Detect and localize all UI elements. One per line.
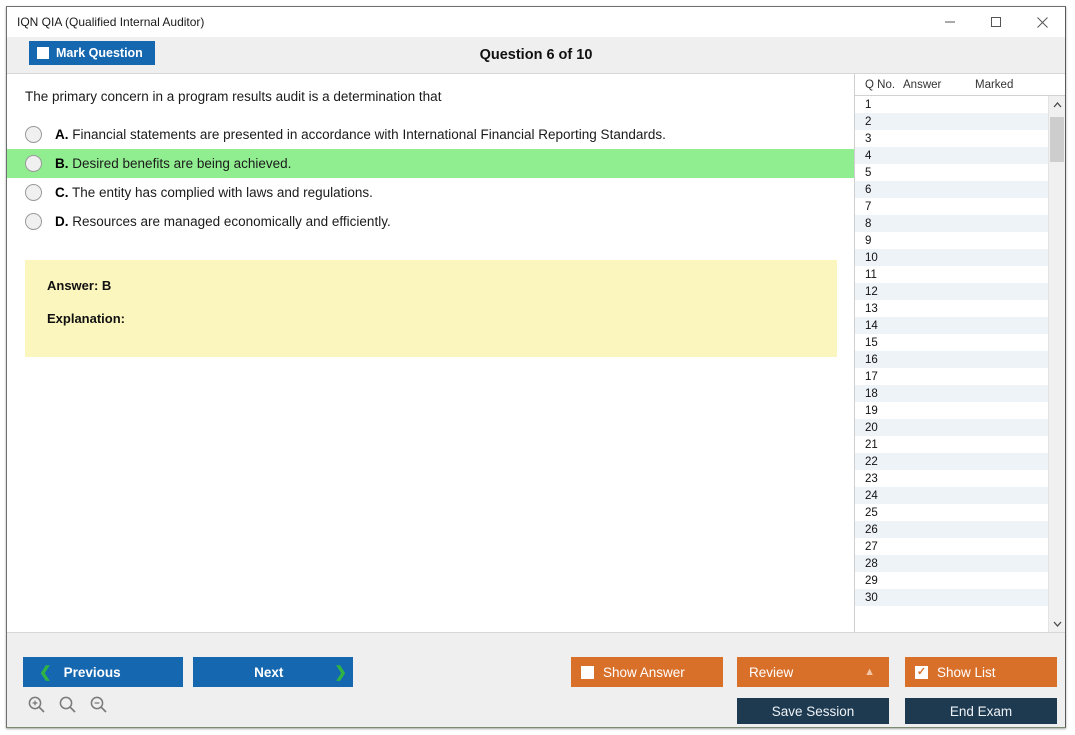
question-list-row[interactable]: 25 xyxy=(855,504,1048,521)
question-list-body: 1234567891011121314151617181920212223242… xyxy=(855,96,1065,632)
zoom-controls xyxy=(27,695,108,714)
review-label: Review xyxy=(749,665,793,680)
question-list-row[interactable]: 9 xyxy=(855,232,1048,249)
option-row[interactable]: A. Financial statements are presented in… xyxy=(7,120,854,149)
previous-button[interactable]: ❮ Previous xyxy=(23,657,183,687)
cell-question-number: 10 xyxy=(855,252,903,264)
cell-question-number: 3 xyxy=(855,133,903,145)
close-button[interactable] xyxy=(1019,7,1065,37)
question-list-row[interactable]: 30 xyxy=(855,589,1048,606)
cell-question-number: 19 xyxy=(855,405,903,417)
question-list-header: Q No. Answer Marked xyxy=(855,74,1065,96)
question-list-row[interactable]: 10 xyxy=(855,249,1048,266)
chevron-up-icon: ▲ xyxy=(864,666,875,678)
question-list-row[interactable]: 26 xyxy=(855,521,1048,538)
options-list: A. Financial statements are presented in… xyxy=(7,120,854,236)
option-radio-button[interactable] xyxy=(25,126,42,143)
cell-question-number: 17 xyxy=(855,371,903,383)
show-answer-button[interactable]: Show Answer xyxy=(571,657,723,687)
footer-toolbar: ❮ Previous Next ❯ Show Answer Review ▲ ✓… xyxy=(7,632,1065,727)
show-list-checkbox-icon: ✓ xyxy=(915,666,928,679)
question-list-row[interactable]: 19 xyxy=(855,402,1048,419)
mark-question-label: Mark Question xyxy=(56,46,143,60)
question-list-row[interactable]: 28 xyxy=(855,555,1048,572)
question-list-row[interactable]: 29 xyxy=(855,572,1048,589)
cell-question-number: 2 xyxy=(855,116,903,128)
cell-question-number: 16 xyxy=(855,354,903,366)
question-header-bar: Mark Question Question 6 of 10 xyxy=(7,37,1065,74)
option-row[interactable]: C. The entity has complied with laws and… xyxy=(7,178,854,207)
cell-question-number: 7 xyxy=(855,201,903,213)
scrollbar-track[interactable] xyxy=(1049,113,1065,615)
show-answer-checkbox-icon xyxy=(581,666,594,679)
cell-question-number: 26 xyxy=(855,524,903,536)
cell-question-number: 18 xyxy=(855,388,903,400)
question-list-row[interactable]: 6 xyxy=(855,181,1048,198)
cell-question-number: 27 xyxy=(855,541,903,553)
question-list-row[interactable]: 24 xyxy=(855,487,1048,504)
chevron-left-icon: ❮ xyxy=(39,665,52,680)
zoom-out-icon[interactable] xyxy=(89,695,108,714)
option-letter: D. xyxy=(55,214,69,229)
option-label: A. Financial statements are presented in… xyxy=(55,127,666,142)
previous-button-label: Previous xyxy=(64,665,121,680)
option-radio-button[interactable] xyxy=(25,213,42,230)
scroll-up-arrow-icon[interactable] xyxy=(1049,96,1065,113)
cell-question-number: 1 xyxy=(855,99,903,111)
question-list-row[interactable]: 20 xyxy=(855,419,1048,436)
window-controls xyxy=(927,7,1065,37)
option-row[interactable]: B. Desired benefits are being achieved. xyxy=(7,149,854,178)
cell-question-number: 14 xyxy=(855,320,903,332)
cell-question-number: 28 xyxy=(855,558,903,570)
question-list-row[interactable]: 14 xyxy=(855,317,1048,334)
option-radio-button[interactable] xyxy=(25,184,42,201)
question-list-scrollbar[interactable] xyxy=(1048,96,1065,632)
chevron-right-icon: ❯ xyxy=(334,665,347,680)
question-list-row[interactable]: 4 xyxy=(855,147,1048,164)
question-list-rows: 1234567891011121314151617181920212223242… xyxy=(855,96,1048,632)
cell-question-number: 5 xyxy=(855,167,903,179)
option-text: Financial statements are presented in ac… xyxy=(72,127,666,142)
option-text: Resources are managed economically and e… xyxy=(72,214,390,229)
question-list-row[interactable]: 21 xyxy=(855,436,1048,453)
cell-question-number: 20 xyxy=(855,422,903,434)
window-title: IQN QIA (Qualified Internal Auditor) xyxy=(7,15,204,29)
next-button[interactable]: Next ❯ xyxy=(193,657,353,687)
cell-question-number: 23 xyxy=(855,473,903,485)
question-list-row[interactable]: 8 xyxy=(855,215,1048,232)
cell-question-number: 21 xyxy=(855,439,903,451)
minimize-button[interactable] xyxy=(927,7,973,37)
question-list-row[interactable]: 3 xyxy=(855,130,1048,147)
mark-question-checkbox-icon xyxy=(37,47,49,59)
scrollbar-thumb[interactable] xyxy=(1050,117,1064,162)
cell-question-number: 13 xyxy=(855,303,903,315)
question-list-row[interactable]: 2 xyxy=(855,113,1048,130)
title-bar: IQN QIA (Qualified Internal Auditor) xyxy=(7,7,1065,37)
question-list-row[interactable]: 17 xyxy=(855,368,1048,385)
answer-line: Answer: B xyxy=(47,278,837,293)
option-letter: C. xyxy=(55,185,69,200)
maximize-button[interactable] xyxy=(973,7,1019,37)
question-counter: Question 6 of 10 xyxy=(7,37,1065,74)
end-exam-button[interactable]: End Exam xyxy=(905,698,1057,724)
question-list-row[interactable]: 11 xyxy=(855,266,1048,283)
question-list-row[interactable]: 15 xyxy=(855,334,1048,351)
show-list-toggle[interactable]: ✓ Show List xyxy=(905,657,1057,687)
option-label: B. Desired benefits are being achieved. xyxy=(55,156,291,171)
column-header-answer: Answer xyxy=(903,79,975,91)
question-list-row[interactable]: 13 xyxy=(855,300,1048,317)
application-window: IQN QIA (Qualified Internal Auditor) Mar… xyxy=(6,6,1066,728)
cell-question-number: 9 xyxy=(855,235,903,247)
show-answer-label: Show Answer xyxy=(603,665,685,680)
option-label: D. Resources are managed economically an… xyxy=(55,214,391,229)
cell-question-number: 11 xyxy=(855,269,903,281)
question-list-row[interactable]: 5 xyxy=(855,164,1048,181)
question-list-row[interactable]: 18 xyxy=(855,385,1048,402)
question-list-row[interactable]: 22 xyxy=(855,453,1048,470)
show-list-label: Show List xyxy=(937,665,996,680)
option-radio-button[interactable] xyxy=(25,155,42,172)
next-button-label: Next xyxy=(209,665,328,680)
cell-question-number: 12 xyxy=(855,286,903,298)
review-dropdown-button[interactable]: Review ▲ xyxy=(737,657,889,687)
end-exam-label: End Exam xyxy=(950,704,1012,719)
question-list-row[interactable]: 7 xyxy=(855,198,1048,215)
cell-question-number: 6 xyxy=(855,184,903,196)
scroll-down-arrow-icon[interactable] xyxy=(1049,615,1065,632)
cell-question-number: 8 xyxy=(855,218,903,230)
question-stem: The primary concern in a program results… xyxy=(7,74,854,106)
cell-question-number: 25 xyxy=(855,507,903,519)
zoom-in-icon[interactable] xyxy=(27,695,46,714)
cell-question-number: 24 xyxy=(855,490,903,502)
option-text: The entity has complied with laws and re… xyxy=(72,185,373,200)
question-list-row[interactable]: 23 xyxy=(855,470,1048,487)
option-row[interactable]: D. Resources are managed economically an… xyxy=(7,207,854,236)
column-header-qno: Q No. xyxy=(855,79,903,91)
cell-question-number: 4 xyxy=(855,150,903,162)
question-list-pane: Q No. Answer Marked 12345678910111213141… xyxy=(855,74,1065,632)
body-region: The primary concern in a program results… xyxy=(7,74,1065,632)
question-list-row[interactable]: 1 xyxy=(855,96,1048,113)
question-list-row[interactable]: 27 xyxy=(855,538,1048,555)
column-header-marked: Marked xyxy=(975,79,1045,91)
answer-explanation-panel: Answer: B Explanation: xyxy=(25,260,837,357)
cell-question-number: 15 xyxy=(855,337,903,349)
mark-question-button[interactable]: Mark Question xyxy=(29,41,155,65)
question-pane: The primary concern in a program results… xyxy=(7,74,855,632)
cell-question-number: 29 xyxy=(855,575,903,587)
zoom-reset-icon[interactable] xyxy=(58,695,77,714)
option-label: C. The entity has complied with laws and… xyxy=(55,185,373,200)
option-letter: A. xyxy=(55,127,69,142)
save-session-button[interactable]: Save Session xyxy=(737,698,889,724)
option-letter: B. xyxy=(55,156,69,171)
question-list-row[interactable]: 16 xyxy=(855,351,1048,368)
save-session-label: Save Session xyxy=(772,704,855,719)
explanation-line: Explanation: xyxy=(47,311,837,326)
cell-question-number: 30 xyxy=(855,592,903,604)
cell-question-number: 22 xyxy=(855,456,903,468)
option-text: Desired benefits are being achieved. xyxy=(72,156,291,171)
question-list-row[interactable]: 12 xyxy=(855,283,1048,300)
